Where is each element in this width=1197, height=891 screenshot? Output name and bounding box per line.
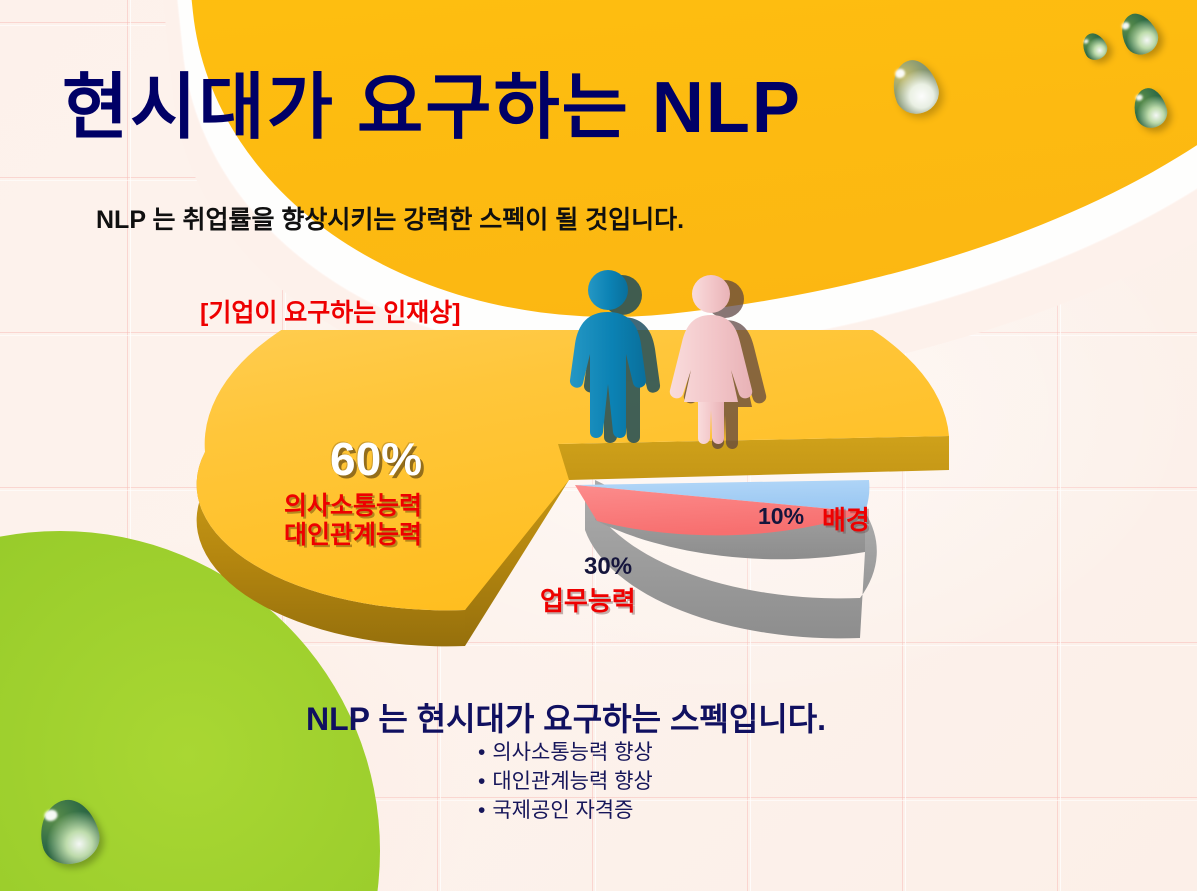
list-item: •국제공인 자격증 — [478, 796, 653, 825]
list-item: •대인관계능력 향상 — [478, 767, 653, 796]
subtitle-text: NLP 는 취업률을 향상시키는 강력한 스펙이 될 것입니다. — [96, 200, 684, 236]
pie-label-business-text: 업무능력 — [540, 581, 636, 618]
droplet-icon-3 — [886, 55, 945, 120]
list-item-label: 국제공인 자격증 — [492, 799, 633, 822]
pie-label-background-text: 배경 — [822, 500, 870, 537]
chart-caption: [기업이 요구하는 인재상] — [200, 293, 461, 329]
droplet-icon-2 — [1114, 7, 1164, 60]
pie-label-communication-line1: 의사소통능력 — [284, 492, 422, 521]
slide-canvas: 현시대가 요구하는 NLP NLP 는 취업률을 향상시키는 강력한 스펙이 될… — [0, 0, 1197, 891]
pie-label-communication-line2: 대인관계능력 — [284, 521, 422, 550]
pie-label-communication-text: 의사소통능력 대인관계능력 — [284, 492, 422, 550]
bullet-marker-icon: • — [478, 741, 485, 764]
bullet-marker-icon: • — [478, 799, 485, 822]
pie-label-communication-percent: 60% — [330, 432, 422, 486]
list-item: •의사소통능력 향상 — [478, 738, 653, 767]
droplet-icon-5 — [33, 794, 105, 870]
footer-heading: NLP 는 현시대가 요구하는 스펙입니다. — [306, 694, 826, 740]
people-figures — [558, 262, 788, 487]
footer-bullet-list: •의사소통능력 향상 •대인관계능력 향상 •국제공인 자격증 — [478, 738, 653, 825]
pie-label-background-percent: 10% — [758, 503, 804, 530]
bullet-marker-icon: • — [478, 770, 485, 793]
list-item-label: 의사소통능력 향상 — [492, 741, 652, 764]
list-item-label: 대인관계능력 향상 — [492, 770, 652, 793]
droplet-icon-4 — [1129, 84, 1171, 131]
pie-label-business-percent: 30% — [584, 553, 632, 581]
page-title: 현시대가 요구하는 NLP — [62, 48, 802, 153]
droplet-icon-1 — [1078, 29, 1111, 64]
